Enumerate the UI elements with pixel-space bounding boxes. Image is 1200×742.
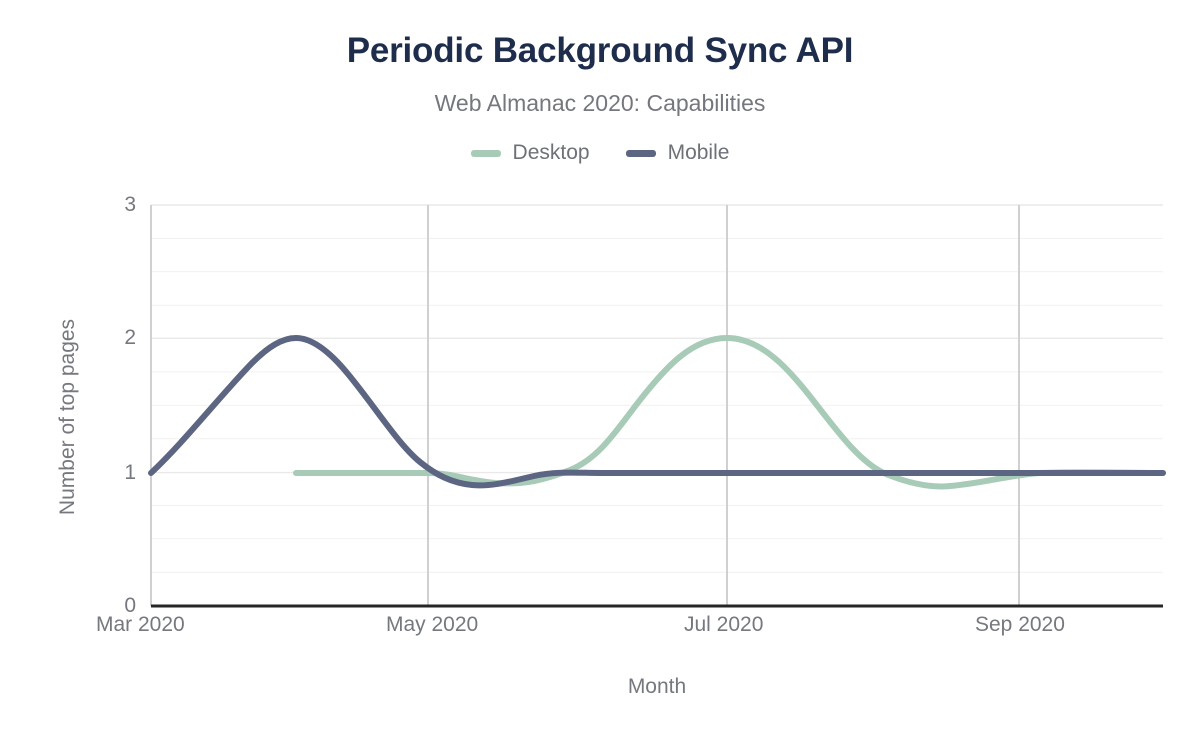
x-tick-label-may-2020: May 2020 [386,612,478,638]
y-axis-title: Number of top pages [56,287,80,547]
y-tick-2: 2 [96,326,136,350]
y-tick-3: 3 [96,193,136,217]
x-tick-label-jul-2020: Jul 2020 [684,612,763,638]
y-tick-label-2: 2 [96,326,136,350]
y-tick-label-1: 1 [96,461,136,485]
x-tick-label-sep-2020: Sep 2020 [975,612,1065,638]
x-axis-title: Month [151,675,1163,699]
y-tick-label-3: 3 [96,193,136,217]
x-tick-label-mar-2020: Mar 2020 [96,612,185,638]
chart-container: Periodic Background Sync API Web Almanac… [0,0,1200,742]
y-tick-1: 1 [96,461,136,485]
series-line-mobile [151,338,1163,485]
minor-gridlines-horizontal [151,238,1163,572]
